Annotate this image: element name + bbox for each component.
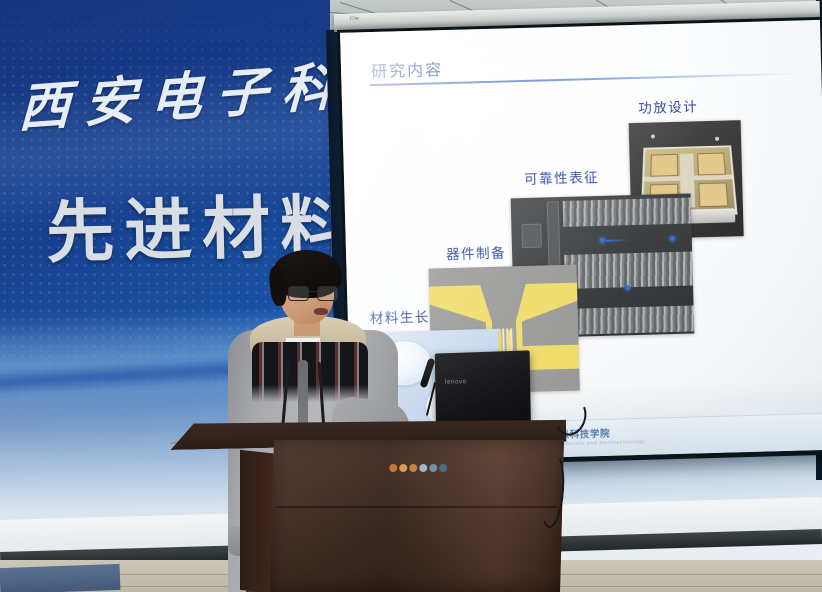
presenter-glasses — [288, 286, 336, 300]
podium-front-face — [270, 440, 564, 592]
presenter-mouth — [314, 308, 328, 315]
label-power-amp-design: 功放设计 — [638, 95, 699, 117]
podium-emblem-icon — [389, 464, 447, 472]
presentation-photo: 西安电子科技大学 先进材料与纳米科技学院 Cine 研究内容 功放设计 — [0, 0, 822, 592]
roller-brand-label: Cine — [350, 16, 360, 21]
laptop-brand-logo: lenovo — [445, 378, 467, 385]
label-device-fabrication: 器件制备 — [446, 242, 507, 264]
floor-blue-strip — [0, 564, 120, 592]
slide-title: 研究内容 — [371, 56, 444, 82]
projection-screen: 研究内容 功放设计 可靠性表征 — [340, 20, 822, 463]
podium-groove — [276, 506, 556, 508]
label-reliability-characterization: 可靠性表征 — [524, 166, 600, 188]
hoodie-shoulder-pattern — [252, 342, 368, 402]
podium — [270, 440, 564, 592]
